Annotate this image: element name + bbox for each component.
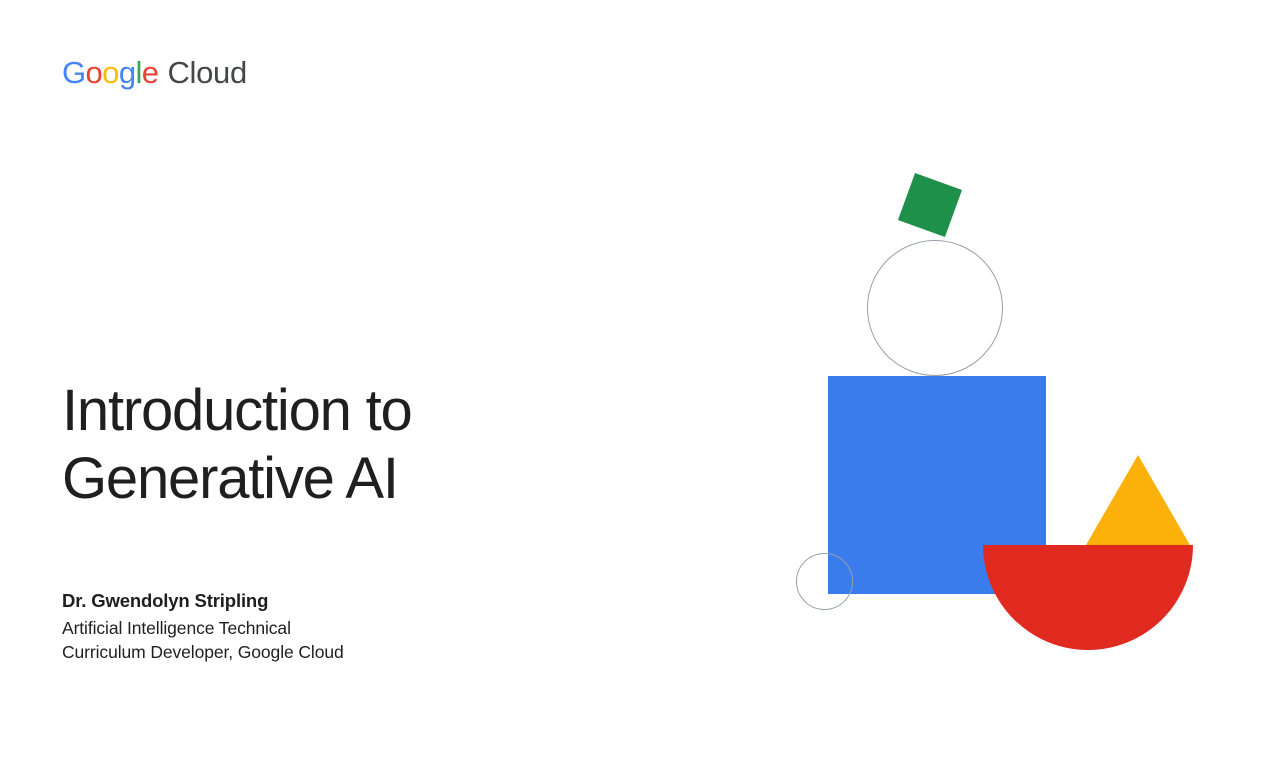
- small-circle-outline-shape: [796, 553, 853, 610]
- google-cloud-suffix: Cloud: [167, 57, 247, 88]
- logo-letter-g-blue-2: g: [119, 57, 136, 88]
- red-semicircle-shape: [983, 545, 1193, 650]
- logo-letter-e-red: e: [142, 57, 159, 88]
- page-title-line-1: Introduction to: [62, 377, 682, 445]
- green-square-shape: [898, 173, 962, 237]
- presenter-role-line-1: Artificial Intelligence Technical: [62, 616, 622, 640]
- google-wordmark: Google: [62, 57, 158, 88]
- presenter-name: Dr. Gwendolyn Stripling: [62, 588, 622, 614]
- title-slide: Google Cloud Introduction to Generative …: [0, 0, 1280, 761]
- page-title-line-2: Generative AI: [62, 445, 682, 513]
- google-cloud-logo: Google Cloud: [62, 57, 247, 88]
- presenter-role-line-2: Curriculum Developer, Google Cloud: [62, 640, 622, 664]
- logo-letter-g-blue: G: [62, 57, 86, 88]
- logo-letter-o-red: o: [86, 57, 103, 88]
- presenter-byline: Dr. Gwendolyn Stripling Artificial Intel…: [62, 588, 622, 664]
- yellow-triangle-shape: [1086, 455, 1190, 545]
- presenter-role: Artificial Intelligence Technical Curric…: [62, 616, 622, 664]
- blue-square-shape: [828, 376, 1046, 594]
- page-title: Introduction to Generative AI: [62, 377, 682, 513]
- large-circle-outline-shape: [867, 240, 1003, 376]
- logo-letter-o-yellow: o: [102, 57, 119, 88]
